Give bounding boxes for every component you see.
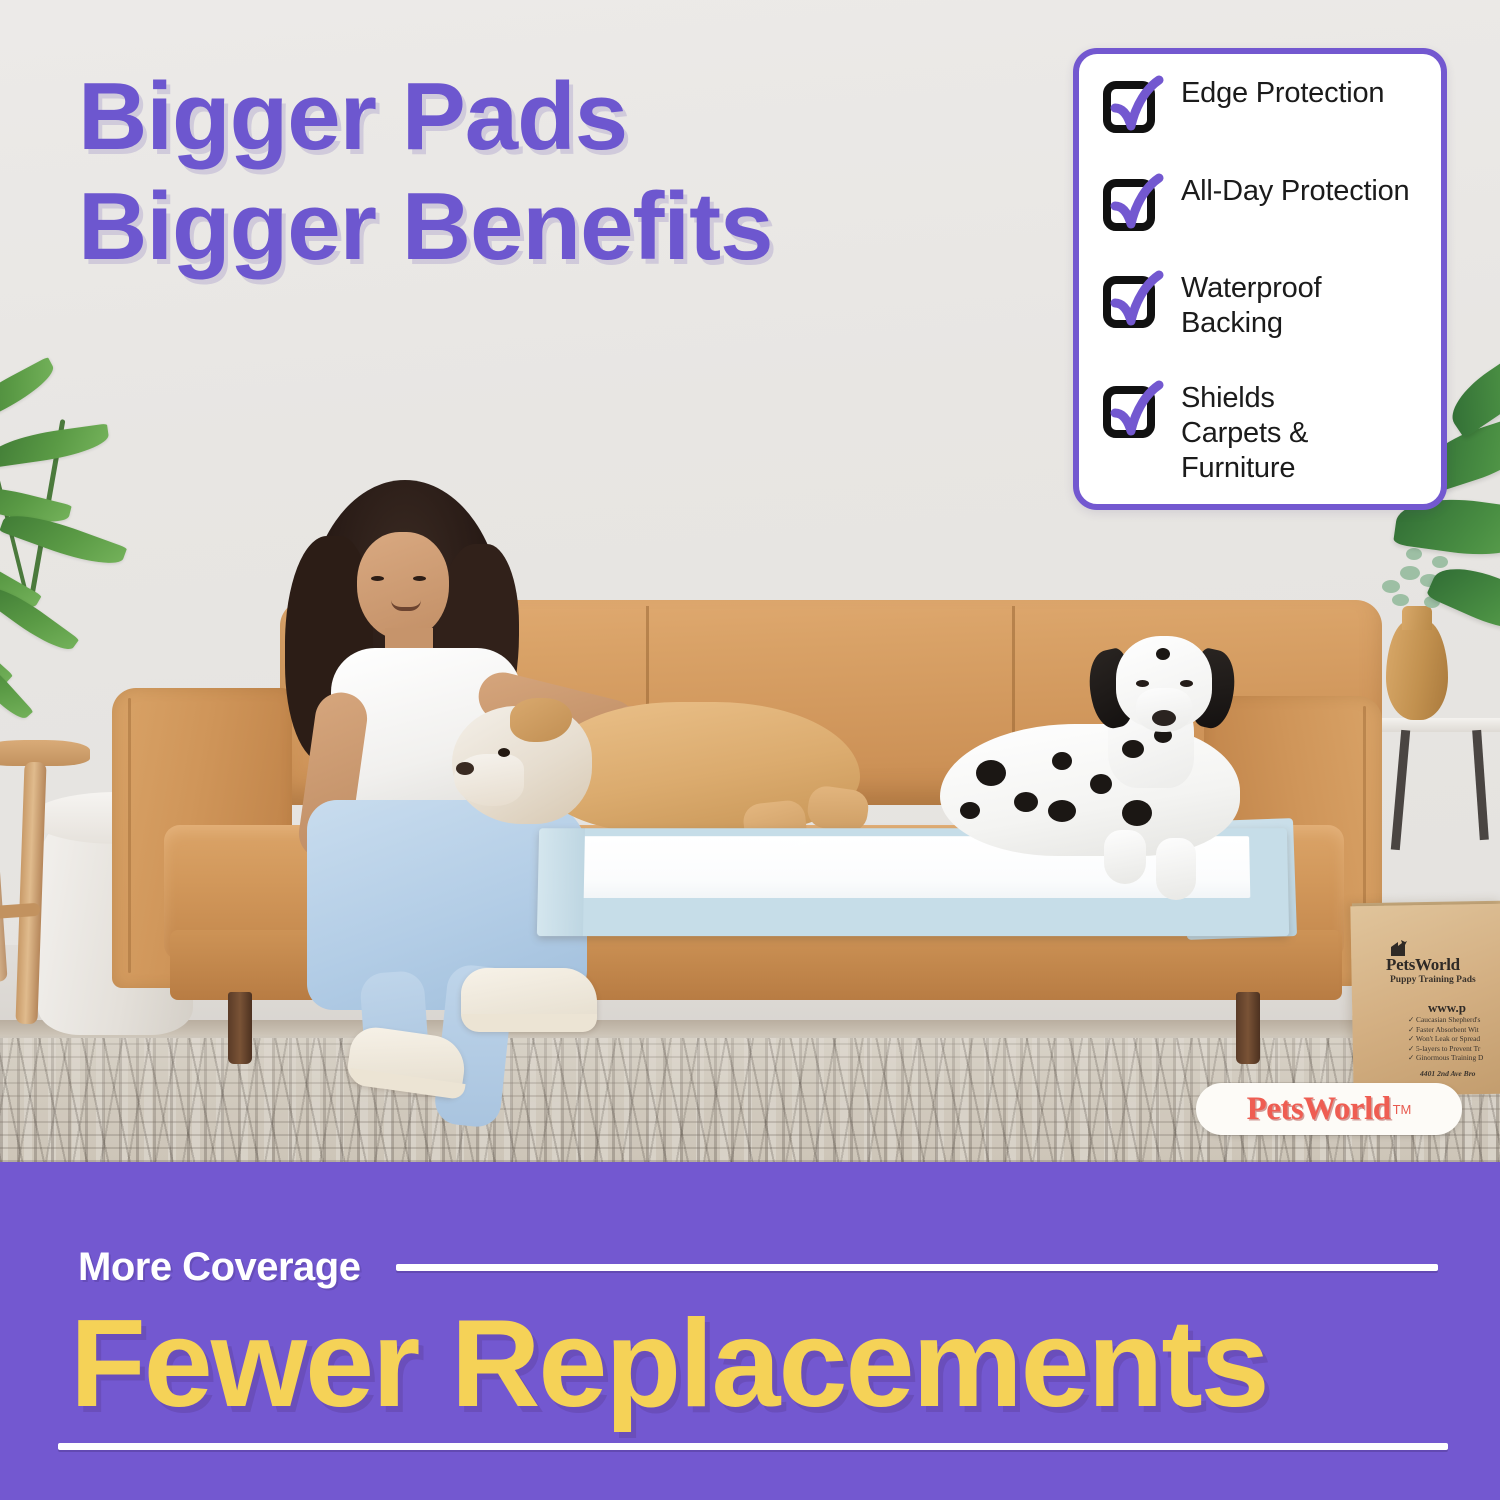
dalmatian-body <box>940 724 1240 856</box>
product-box-website: www.p <box>1428 1000 1466 1016</box>
checkbox-checked-icon <box>1103 273 1159 329</box>
bulldog-eye <box>498 748 510 757</box>
dalmatian-paw <box>1104 830 1146 884</box>
checklist-item: Edge Protection <box>1103 76 1421 134</box>
petsworld-logo-badge: PetsWorldTM <box>1196 1083 1462 1135</box>
checklist-item-label: Waterproof Backing <box>1181 271 1421 341</box>
decorative-vase <box>1386 620 1448 720</box>
checkbox-checked-icon <box>1103 78 1159 134</box>
banner-headline: Fewer Replacements <box>70 1294 1450 1434</box>
banner-divider-bottom <box>58 1443 1448 1450</box>
product-box-subtitle: Puppy Training Pads <box>1390 975 1500 985</box>
checklist-item-label: Edge Protection <box>1181 76 1384 111</box>
checklist-item: Shields Carpets & Furniture <box>1103 381 1421 486</box>
checklist-item: Waterproof Backing <box>1103 271 1421 341</box>
pad-folded-edge <box>537 828 585 936</box>
dalmatian-paw <box>1156 838 1196 900</box>
trademark-symbol: TM <box>1393 1102 1412 1117</box>
product-box <box>1350 904 1500 1097</box>
dalmatian-dog <box>940 632 1270 922</box>
bulldog-nose <box>456 762 474 775</box>
benefits-checklist-card: Edge Protection All-Day Protection Water… <box>1073 48 1447 510</box>
checklist-item: All-Day Protection <box>1103 174 1421 232</box>
product-marketing-image: PetsWorld Puppy Training Pads www.p ✓ Ca… <box>0 0 1500 1500</box>
dalmatian-nose <box>1152 710 1176 726</box>
banner-eyebrow-row: More Coverage <box>78 1245 1438 1289</box>
wooden-stool <box>0 740 88 1040</box>
checkbox-checked-icon <box>1103 383 1159 439</box>
checklist-item-label: All-Day Protection <box>1181 174 1410 209</box>
page-title: Bigger Pads Bigger Benefits <box>78 62 958 282</box>
petsworld-logo-text: PetsWorld <box>1247 1091 1391 1128</box>
headline-line-2: Bigger Benefits <box>78 172 958 282</box>
vase-neck <box>1402 606 1432 630</box>
face <box>357 532 449 640</box>
product-box-address: 4401 2nd Ave Bro <box>1420 1069 1475 1078</box>
headline-line-1: Bigger Pads <box>78 62 958 172</box>
banner-eyebrow: More Coverage <box>78 1245 360 1290</box>
checkbox-checked-icon <box>1103 176 1159 232</box>
product-box-brand: PetsWorld <box>1386 955 1500 975</box>
couch-leg <box>1236 992 1260 1064</box>
checklist-item-label: Shields Carpets & Furniture <box>1181 381 1381 486</box>
product-box-bullets: ✓ Caucasian Shepherd's ✓ Faster Absorben… <box>1408 1015 1500 1063</box>
banner-divider-top <box>396 1264 1438 1271</box>
